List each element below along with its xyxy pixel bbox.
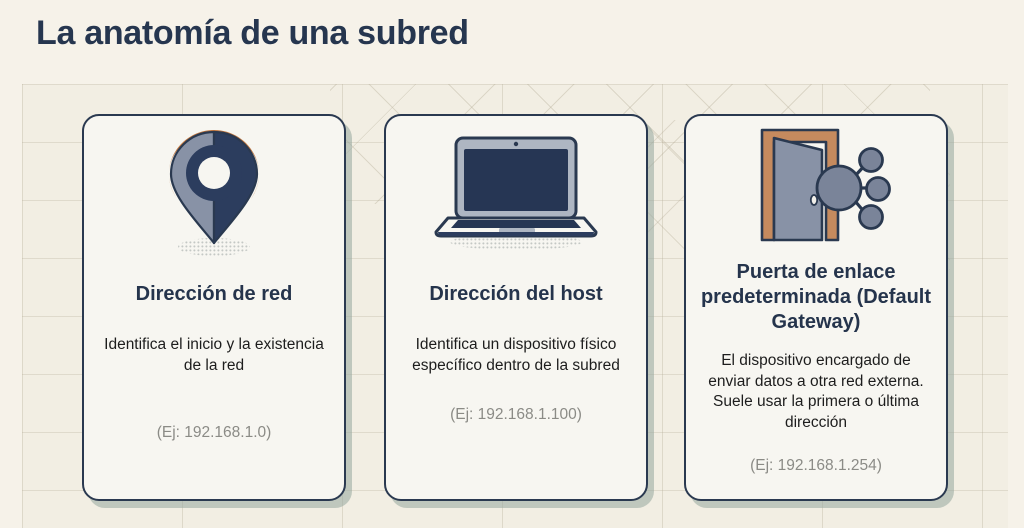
- background-left-margin: [0, 84, 22, 528]
- page-title: La anatomía de una subred: [36, 14, 469, 53]
- gateway-door-network-icon: [686, 116, 946, 254]
- card-title: Dirección del host: [419, 282, 612, 307]
- card-network-address: Dirección de red Identifica el inicio y …: [82, 114, 346, 501]
- card-default-gateway: Puerta de enlace predeterminada (Default…: [684, 114, 948, 501]
- card-description: Identifica un dispositivo físico específ…: [386, 335, 646, 376]
- card-example: (Ej: 192.168.1.0): [157, 424, 272, 442]
- card-example: (Ej: 192.168.1.254): [750, 457, 882, 475]
- location-pin-icon: [84, 116, 344, 266]
- card-title: Puerta de enlace predeterminada (Default…: [686, 260, 946, 335]
- card-description: El dispositivo encargado de enviar datos…: [686, 351, 946, 433]
- card-host-address: Dirección del host Identifica un disposi…: [384, 114, 648, 501]
- laptop-icon: [386, 116, 646, 266]
- card-title: Dirección de red: [126, 282, 303, 307]
- card-description: Identifica el inicio y la existencia de …: [84, 335, 344, 376]
- card-example: (Ej: 192.168.1.100): [450, 406, 582, 424]
